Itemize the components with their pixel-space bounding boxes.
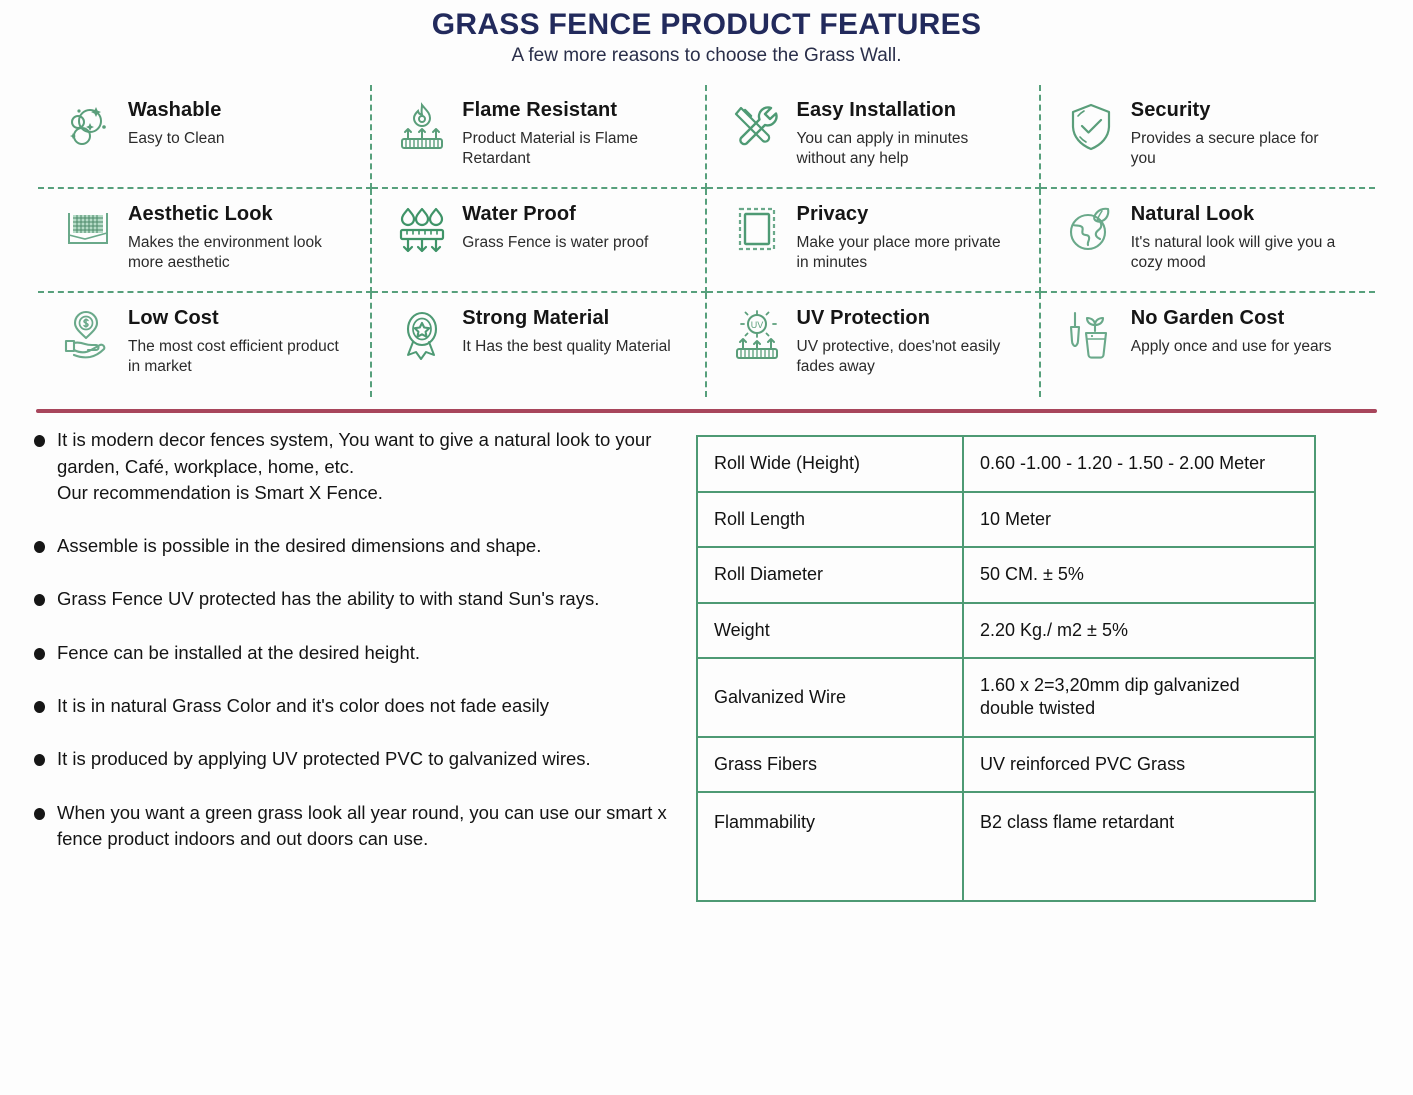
feature-desc: Provides a secure place for you	[1131, 129, 1346, 169]
spec-key: Grass Fibers	[697, 737, 963, 792]
feature-grid: Washable Easy to Clean Flame Resistant P…	[38, 85, 1375, 397]
feature-text: Aesthetic Look Makes the environment loo…	[128, 201, 343, 272]
benefits-list: It is modern decor fences system, You wa…	[0, 427, 690, 902]
feature-card-easy-installation: Easy Installation You can apply in minut…	[707, 85, 1041, 189]
spec-value: 50 CM. ± 5%	[963, 547, 1315, 602]
specifications-table: Roll Wide (Height) 0.60 -1.00 - 1.20 - 1…	[696, 435, 1316, 902]
flame-grass-icon	[394, 97, 450, 161]
feature-title: Easy Installation	[797, 99, 1012, 123]
table-row: Roll Diameter 50 CM. ± 5%	[697, 547, 1315, 602]
feature-card-water-proof: Water Proof Grass Fence is water proof	[372, 189, 706, 293]
feature-card-flame-resistant: Flame Resistant Product Material is Flam…	[372, 85, 706, 189]
shield-check-icon	[1063, 97, 1119, 161]
feature-desc: It's natural look will give you a cozy m…	[1131, 233, 1346, 273]
feature-desc: You can apply in minutes without any hel…	[797, 129, 1012, 169]
table-row: Galvanized Wire 1.60 x 2=3,20mm dip galv…	[697, 658, 1315, 737]
bullet-text: Grass Fence UV protected has the ability…	[57, 586, 599, 612]
list-item: It is produced by applying UV protected …	[34, 746, 690, 772]
feature-desc: Product Material is Flame Retardant	[462, 129, 677, 169]
feature-card-aesthetic-look: Aesthetic Look Makes the environment loo…	[38, 189, 372, 293]
feature-card-privacy: Privacy Make your place more private in …	[707, 189, 1041, 293]
page-subtitle: A few more reasons to choose the Grass W…	[0, 45, 1413, 68]
feature-desc: The most cost efficient product in marke…	[128, 337, 343, 377]
feature-text: Washable Easy to Clean	[128, 97, 225, 148]
feature-text: Water Proof Grass Fence is water proof	[462, 201, 648, 252]
spec-value: 1.60 x 2=3,20mm dip galvanized double tw…	[963, 658, 1315, 737]
bullet-dot-icon	[34, 808, 45, 820]
spec-value: 2.20 Kg./ m2 ± 5%	[963, 603, 1315, 658]
hand-coin-icon	[60, 305, 116, 369]
feature-desc: Easy to Clean	[128, 129, 225, 149]
feature-title: Security	[1131, 99, 1346, 123]
feature-text: Privacy Make your place more private in …	[797, 201, 1012, 272]
spec-key: Weight	[697, 603, 963, 658]
water-drops-icon	[394, 201, 450, 265]
table-row: Roll Wide (Height) 0.60 -1.00 - 1.20 - 1…	[697, 436, 1315, 491]
spec-value: 0.60 -1.00 - 1.20 - 1.50 - 2.00 Meter	[963, 436, 1315, 491]
table-row: Flammability B2 class flame retardant	[697, 792, 1315, 901]
page-title: GRASS FENCE PRODUCT FEATURES	[0, 8, 1413, 42]
lower-section: It is modern decor fences system, You wa…	[0, 427, 1413, 902]
spec-key: Roll Wide (Height)	[697, 436, 963, 491]
feature-card-strong-material: Strong Material It Has the best quality …	[372, 293, 706, 397]
bullet-dot-icon	[34, 648, 45, 660]
list-item: When you want a green grass look all yea…	[34, 800, 690, 853]
list-item: It is in natural Grass Color and it's co…	[34, 693, 690, 719]
spec-key: Roll Length	[697, 492, 963, 547]
feature-desc: UV protective, does'not easily fades awa…	[797, 337, 1012, 377]
feature-desc: Make your place more private in minutes	[797, 233, 1012, 273]
list-item: It is modern decor fences system, You wa…	[34, 427, 690, 506]
wrench-screwdriver-icon	[729, 97, 785, 161]
feature-card-natural-look: Natural Look It's natural look will give…	[1041, 189, 1375, 293]
list-item: Grass Fence UV protected has the ability…	[34, 586, 690, 612]
feature-text: Low Cost The most cost efficient product…	[128, 305, 343, 376]
feature-text: Flame Resistant Product Material is Flam…	[462, 97, 677, 168]
spec-value: B2 class flame retardant	[963, 792, 1315, 901]
globe-leaf-icon	[1063, 201, 1119, 265]
feature-title: Flame Resistant	[462, 99, 677, 123]
spec-key: Flammability	[697, 792, 963, 901]
table-row: Grass Fibers UV reinforced PVC Grass	[697, 737, 1315, 792]
feature-card-uv-protection: UV UV Protection UV protective, does'not…	[707, 293, 1041, 397]
bullet-dot-icon	[34, 754, 45, 766]
section-divider	[36, 409, 1377, 413]
feature-desc: It Has the best quality Material	[462, 337, 671, 357]
bullet-text: Fence can be installed at the desired he…	[57, 640, 420, 666]
bullet-text: It is in natural Grass Color and it's co…	[57, 693, 549, 719]
potted-plant-trowel-icon	[1063, 305, 1119, 369]
feature-title: UV Protection	[797, 307, 1012, 331]
feature-desc: Apply once and use for years	[1131, 337, 1332, 357]
feature-title: No Garden Cost	[1131, 307, 1332, 331]
bullet-text: It is produced by applying UV protected …	[57, 746, 591, 772]
feature-text: Security Provides a secure place for you	[1131, 97, 1346, 168]
privacy-panel-icon	[729, 201, 785, 265]
feature-card-low-cost: Low Cost The most cost efficient product…	[38, 293, 372, 397]
feature-card-washable: Washable Easy to Clean	[38, 85, 372, 189]
spec-key: Roll Diameter	[697, 547, 963, 602]
product-features-page: GRASS FENCE PRODUCT FEATURES A few more …	[0, 0, 1413, 1095]
bullet-dot-icon	[34, 701, 45, 713]
spec-value: UV reinforced PVC Grass	[963, 737, 1315, 792]
table-row: Weight 2.20 Kg./ m2 ± 5%	[697, 603, 1315, 658]
feature-text: No Garden Cost Apply once and use for ye…	[1131, 305, 1332, 356]
page-header: GRASS FENCE PRODUCT FEATURES A few more …	[0, 0, 1413, 67]
feature-text: Easy Installation You can apply in minut…	[797, 97, 1012, 168]
sparkle-bubbles-icon	[60, 97, 116, 161]
feature-card-security: Security Provides a secure place for you	[1041, 85, 1375, 189]
bullet-dot-icon	[34, 435, 45, 447]
feature-title: Water Proof	[462, 203, 648, 227]
bullet-text: Assemble is possible in the desired dime…	[57, 533, 541, 559]
feature-desc: Grass Fence is water proof	[462, 233, 648, 253]
uv-sun-grass-icon: UV	[729, 305, 785, 369]
feature-title: Washable	[128, 99, 225, 123]
bullet-text: It is modern decor fences system, You wa…	[57, 427, 690, 506]
feature-card-no-garden-cost: No Garden Cost Apply once and use for ye…	[1041, 293, 1375, 397]
list-item: Assemble is possible in the desired dime…	[34, 533, 690, 559]
bullet-text: When you want a green grass look all yea…	[57, 800, 690, 853]
award-badge-icon	[394, 305, 450, 369]
feature-text: UV Protection UV protective, does'not ea…	[797, 305, 1012, 376]
feature-title: Privacy	[797, 203, 1012, 227]
bullet-dot-icon	[34, 541, 45, 553]
spec-value: 10 Meter	[963, 492, 1315, 547]
feature-desc: Makes the environment look more aestheti…	[128, 233, 343, 273]
list-item: Fence can be installed at the desired he…	[34, 640, 690, 666]
feature-title: Natural Look	[1131, 203, 1346, 227]
spec-key: Galvanized Wire	[697, 658, 963, 737]
svg-text:UV: UV	[750, 320, 763, 330]
table-row: Roll Length 10 Meter	[697, 492, 1315, 547]
feature-text: Natural Look It's natural look will give…	[1131, 201, 1346, 272]
bullet-dot-icon	[34, 594, 45, 606]
feature-title: Aesthetic Look	[128, 203, 343, 227]
feature-text: Strong Material It Has the best quality …	[462, 305, 671, 356]
feature-title: Low Cost	[128, 307, 343, 331]
fence-mesh-icon	[60, 201, 116, 265]
feature-title: Strong Material	[462, 307, 671, 331]
